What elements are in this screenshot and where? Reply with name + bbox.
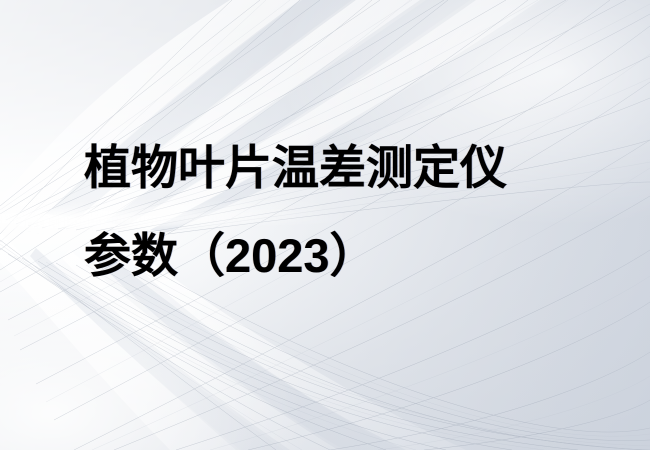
title-slide: 植物叶片温差测定仪 参数（2023） xyxy=(0,0,650,450)
slide-title-line-2: 参数（2023） xyxy=(84,212,624,300)
slide-title: 植物叶片温差测定仪 参数（2023） xyxy=(84,124,624,300)
slide-title-line-1: 植物叶片温差测定仪 xyxy=(84,124,624,212)
